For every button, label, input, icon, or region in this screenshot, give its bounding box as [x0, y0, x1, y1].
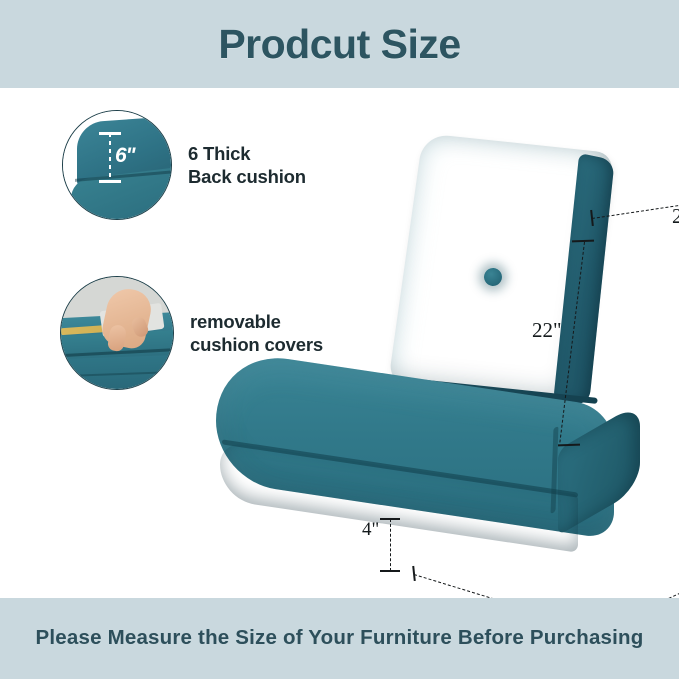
- dimension-label-seat-thickness: 4": [362, 519, 379, 541]
- dimension-label-back-width: 22": [672, 204, 679, 229]
- dimension-tick-seat-thickness-bottom: [380, 570, 400, 572]
- product-size-infographic: Prodcut Size 6" 6 Thick Back cushion: [0, 0, 679, 679]
- header-band: Prodcut Size: [0, 0, 679, 88]
- page-title: Prodcut Size: [218, 24, 460, 65]
- dimension-line-seat-thickness: [390, 519, 391, 571]
- dimension-label-back-height: 22": [532, 318, 562, 343]
- thickness-badge-label: 6": [115, 144, 135, 168]
- dimension-tick-seat-thickness-top: [380, 518, 400, 520]
- footer-band: Please Measure the Size of Your Furnitur…: [0, 598, 679, 679]
- removable-cover-zipper-photo-icon: [60, 276, 174, 390]
- back-cushion-thickness-photo-icon: 6": [62, 110, 172, 220]
- product-illustration: 22" 6" 22" 4" 22" 24": [180, 96, 679, 596]
- footer-message: Please Measure the Size of Your Furnitur…: [12, 625, 668, 651]
